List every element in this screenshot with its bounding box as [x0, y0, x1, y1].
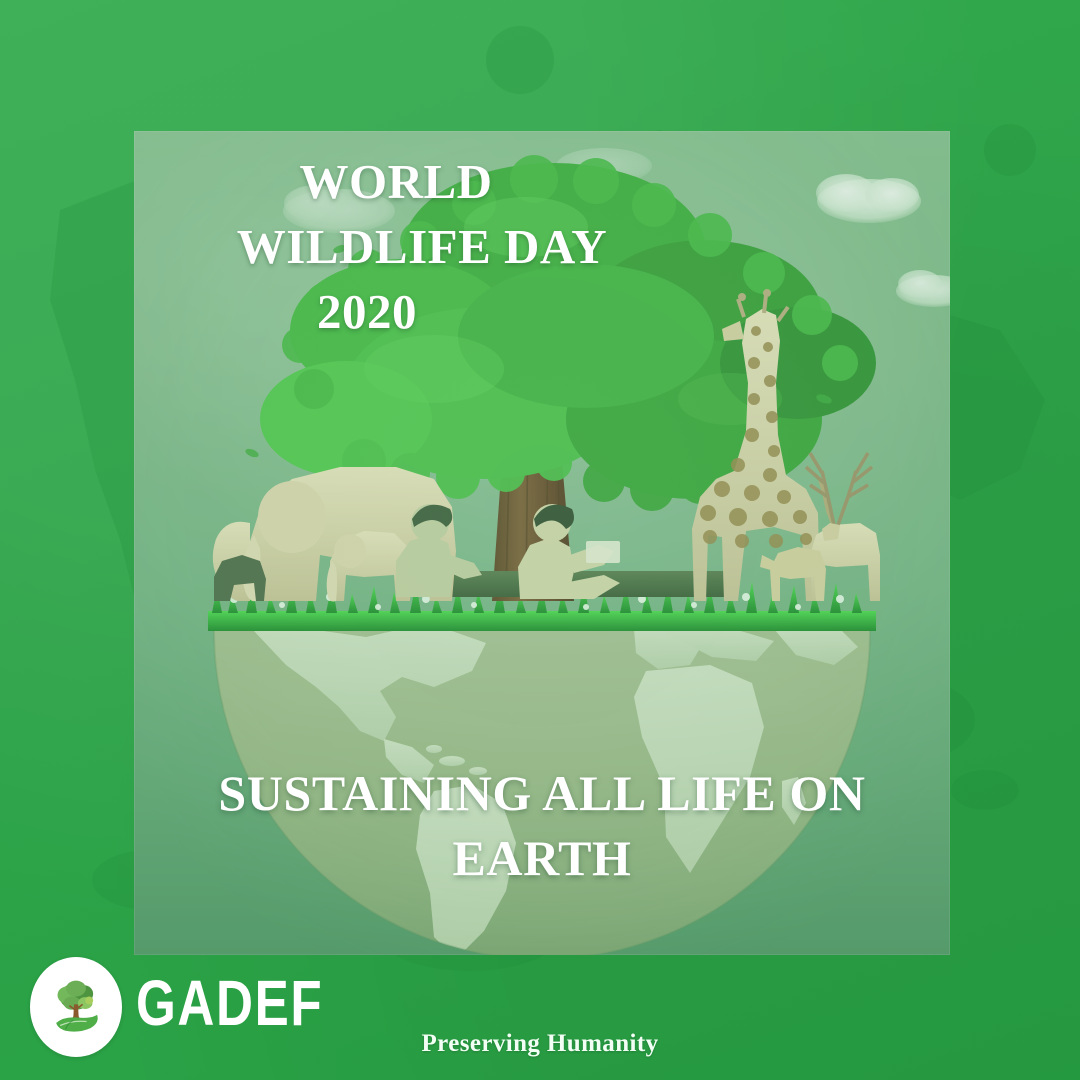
- footer: GADEF Preserving Humanity: [0, 955, 1080, 1080]
- brand-name: GADEF: [136, 971, 323, 1035]
- poster: WORLD WILDLIFE DAY 2020 SUSTAINING ALL L…: [0, 0, 1080, 1080]
- headline-line-3: 2020: [162, 279, 682, 344]
- theme-statement: SUSTAINING ALL LIFE ON EARTH: [184, 761, 900, 891]
- headline-line-2: WILDLIFE DAY: [162, 214, 682, 279]
- brand-tagline: Preserving Humanity: [0, 1030, 1080, 1058]
- artwork-panel: WORLD WILDLIFE DAY 2020 SUSTAINING ALL L…: [134, 131, 950, 955]
- headline-line-1: WORLD: [162, 149, 682, 214]
- headline: WORLD WILDLIFE DAY 2020: [162, 149, 682, 344]
